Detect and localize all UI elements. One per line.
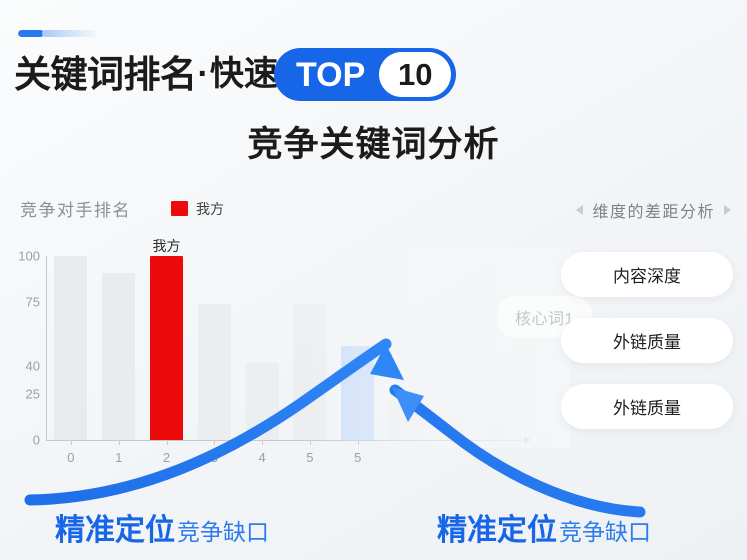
caption-right-strong: 精准定位: [437, 505, 557, 549]
bar: [293, 304, 326, 440]
x-axis-tick-label: 5: [354, 450, 361, 465]
x-axis-tick-label: 0: [67, 450, 74, 465]
x-axis-tick-label: 2: [163, 450, 170, 465]
bar-me-label: 我方: [153, 236, 181, 256]
chart-header: 竞争对手排名 我方: [20, 196, 224, 221]
dimension-card[interactable]: 内容深度: [561, 252, 733, 297]
x-axis-tick: [214, 440, 215, 445]
triangle-left-icon: [576, 205, 583, 215]
x-axis-tick: [358, 440, 359, 445]
bar: [246, 363, 279, 440]
top-badge-number-pill: 10: [379, 52, 451, 97]
x-axis-tick: [167, 440, 168, 445]
legend-label: 我方: [196, 199, 224, 219]
top-badge: TOP 10: [274, 48, 456, 101]
bar: [389, 400, 422, 440]
x-axis-tick-label: 1: [115, 450, 122, 465]
x-axis-tick: [119, 440, 120, 445]
y-axis-tick-label: 0: [33, 433, 40, 448]
y-axis-labels: 1007540250: [0, 248, 44, 440]
top-badge-number: 10: [398, 59, 432, 90]
title-fast-text: 快速: [210, 57, 278, 91]
title-main-text: 关键词排名: [14, 56, 197, 93]
x-axis-tick: [71, 440, 72, 445]
triangle-right-icon: [724, 205, 731, 215]
chart-plot-area: 我方: [47, 256, 525, 440]
bar: [341, 346, 374, 440]
accent-bar-fade: [42, 30, 100, 37]
x-axis-arrow-icon: [524, 436, 531, 444]
legend-swatch-icon: [171, 201, 188, 216]
x-axis-line: [46, 440, 524, 441]
dimension-card[interactable]: 外链质量: [561, 318, 733, 363]
slide-root: 关键词排名 · 快速 TOP 10 竞争关键词分析 竞争对手排名 我方 维度的差…: [0, 0, 747, 560]
y-axis-tick-label: 75: [26, 295, 40, 310]
bar: [437, 414, 470, 440]
x-axis-tick: [262, 440, 263, 445]
accent-bar-solid: [18, 30, 44, 37]
dimension-card-list: 内容深度外链质量外链质量: [561, 252, 733, 450]
caption-right: 精准定位 竞争缺口: [437, 505, 651, 549]
chart-legend: 我方: [171, 199, 224, 219]
bar: [198, 304, 231, 440]
caption-right-weak: 竞争缺口: [559, 513, 651, 547]
bar: [102, 273, 135, 440]
bar-me: [150, 256, 183, 440]
x-axis-tick-label: 4: [258, 450, 265, 465]
gap-analysis-header: 维度的差距分析: [576, 198, 731, 222]
x-axis-tick: [310, 440, 311, 445]
chart-title: 竞争对手排名: [20, 196, 131, 221]
x-axis-tick-label: 3: [211, 450, 218, 465]
page-title: 关键词排名 · 快速: [14, 46, 278, 102]
bar: [54, 256, 87, 440]
y-axis-tick-label: 40: [26, 359, 40, 374]
dimension-card[interactable]: 外链质量: [561, 384, 733, 429]
x-axis-tick-label: 5: [306, 450, 313, 465]
page-subtitle: 竞争关键词分析: [0, 116, 747, 167]
y-axis-tick-label: 100: [18, 249, 40, 264]
accent-bar: [18, 30, 100, 37]
caption-left: 精准定位 竞争缺口: [55, 505, 269, 549]
caption-left-weak: 竞争缺口: [177, 513, 269, 547]
bar-chart: 1007540250 我方 0123455: [0, 248, 560, 468]
y-axis-tick-label: 25: [26, 387, 40, 402]
bar: [485, 423, 518, 440]
title-separator-dot: ·: [197, 55, 210, 94]
gap-analysis-title: 维度的差距分析: [592, 198, 715, 222]
caption-left-strong: 精准定位: [55, 505, 175, 549]
top-badge-label: TOP: [296, 58, 365, 92]
